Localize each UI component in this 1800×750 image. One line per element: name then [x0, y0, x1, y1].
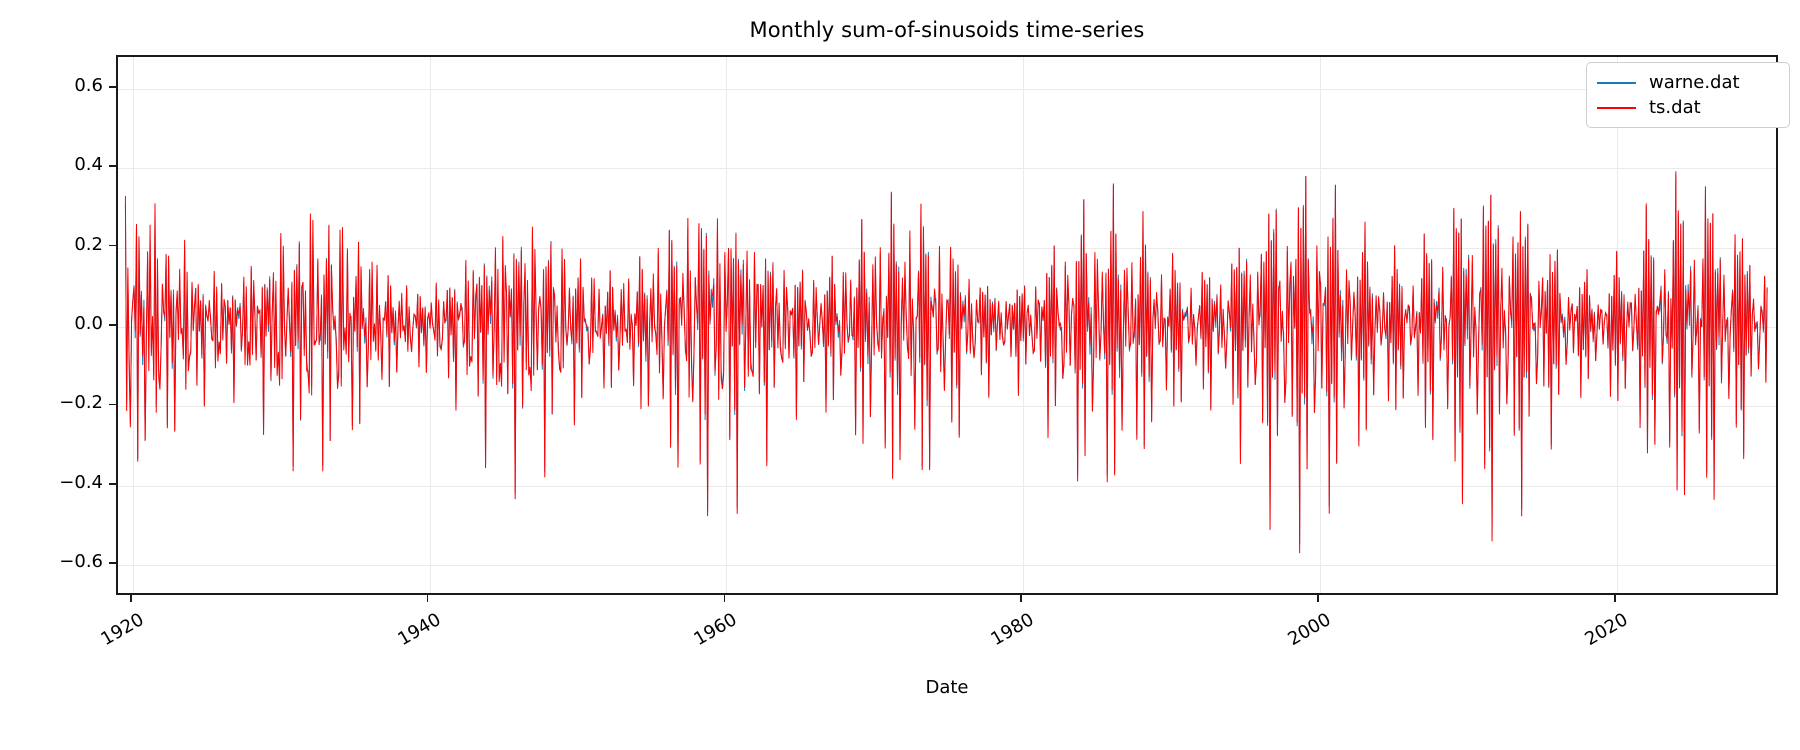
legend-color-swatch [1597, 82, 1636, 84]
y-axis-label: Value [0, 243, 3, 292]
legend-label: warne.dat [1649, 72, 1740, 93]
y-tick-label: −0.2 [59, 392, 103, 413]
legend-entry[interactable]: warne.dat [1597, 70, 1779, 95]
legend-entry[interactable]: ts.dat [1597, 95, 1779, 120]
x-tick-mark [1614, 595, 1616, 602]
chart-title: Monthly sum-of-sinusoids time-series [116, 18, 1778, 42]
y-tick-label: 0.4 [74, 154, 103, 175]
y-tick-mark [109, 165, 116, 167]
y-tick-label: 0.0 [74, 313, 103, 334]
legend-color-swatch [1597, 107, 1636, 109]
series-line [125, 171, 1767, 553]
y-tick-label: 0.2 [74, 234, 103, 255]
y-tick-mark [109, 245, 116, 247]
legend-label: ts.dat [1649, 97, 1701, 118]
y-tick-mark [109, 483, 116, 485]
x-tick-label: 1980 [988, 609, 1038, 650]
y-tick-label: 0.6 [74, 75, 103, 96]
x-tick-label: 2020 [1581, 609, 1631, 650]
chart-legend[interactable]: warne.datts.dat [1586, 62, 1790, 128]
y-tick-label: −0.4 [59, 472, 103, 493]
x-tick-label: 2000 [1284, 609, 1334, 650]
y-tick-label: −0.6 [59, 551, 103, 572]
plot-area [116, 55, 1778, 595]
x-tick-mark [427, 595, 429, 602]
y-tick-mark [109, 324, 116, 326]
series-canvas [118, 57, 1776, 593]
x-tick-mark [130, 595, 132, 602]
x-tick-mark [1317, 595, 1319, 602]
x-tick-mark [1020, 595, 1022, 602]
y-tick-mark [109, 562, 116, 564]
x-tick-label: 1960 [691, 609, 741, 650]
x-tick-label: 1920 [97, 609, 147, 650]
x-axis-label: Date [116, 677, 1778, 698]
x-tick-label: 1940 [394, 609, 444, 650]
y-tick-mark [109, 404, 116, 406]
chart-figure: Monthly sum-of-sinusoids time-series Val… [0, 0, 1800, 750]
y-tick-mark [109, 86, 116, 88]
x-tick-mark [724, 595, 726, 602]
